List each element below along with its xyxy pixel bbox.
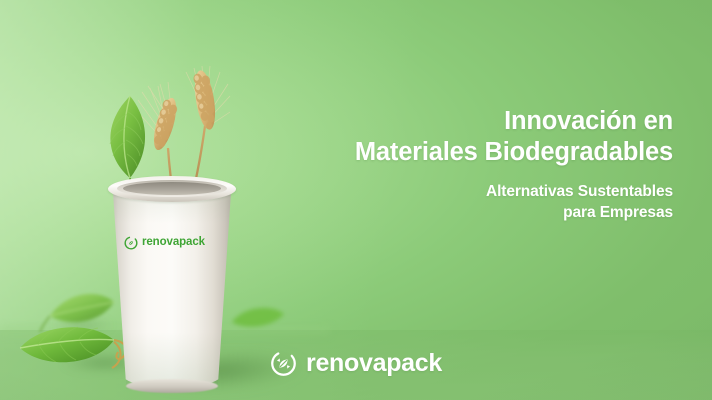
headline-line-2: Materiales Biodegradables	[253, 137, 673, 168]
headline: Innovación en Materiales Biodegradables	[253, 106, 673, 168]
subheadline: Alternativas Sustentables para Empresas	[253, 182, 673, 223]
subheadline-line-1: Alternativas Sustentables	[486, 183, 673, 200]
text-block: Innovación en Materiales Biodegradables …	[253, 106, 673, 223]
slide-canvas: renovapack Innovación en Materiales Biod…	[0, 0, 712, 400]
headline-line-1: Innovación en	[504, 107, 673, 135]
recycle-leaf-icon	[270, 350, 297, 377]
brand-footer: renovapack	[0, 350, 712, 377]
brand-name: renovapack	[306, 351, 442, 376]
subheadline-line-2: para Empresas	[253, 203, 673, 223]
